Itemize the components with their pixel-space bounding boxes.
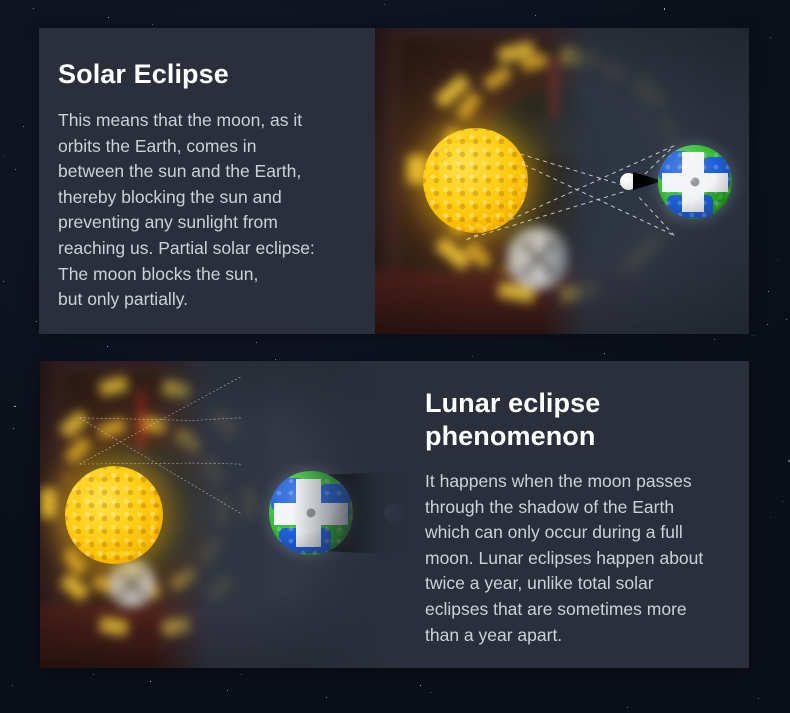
body-line: twice a year, unlike total solar (425, 571, 729, 597)
lunar-eclipse-text-panel: Lunar eclipse phenomenon It happens when… (413, 361, 749, 668)
solar-eclipse-body: This means that the moon, as it orbits t… (58, 108, 349, 313)
body-line: between the sun and the Earth, (58, 159, 349, 185)
earth-sphere (658, 145, 732, 219)
solar-eclipse-card[interactable]: Solar Eclipse This means that the moon, … (39, 28, 749, 334)
lunar-eclipse-heading: Lunar eclipse phenomenon (425, 387, 729, 453)
body-line: preventing any sunlight from (58, 210, 349, 236)
body-line: which can only occur during a full (425, 520, 729, 546)
heading-line: Lunar eclipse (425, 387, 729, 420)
sun-sphere (65, 466, 163, 564)
body-line: This means that the moon, as it (58, 108, 349, 134)
heading-line: phenomenon (425, 420, 729, 453)
solar-eclipse-text-panel: Solar Eclipse This means that the moon, … (39, 28, 375, 334)
body-line: but only partially. (58, 287, 349, 313)
body-line: thereby blocking the sun and (58, 185, 349, 211)
body-line: reaching us. Partial solar eclipse: (58, 236, 349, 262)
body-line: than a year apart. (425, 623, 729, 649)
image-fade-right (293, 361, 413, 668)
body-line: It happens when the moon passes (425, 469, 729, 495)
lunar-eclipse-body: It happens when the moon passes through … (425, 469, 729, 648)
body-line: through the shadow of the Earth (425, 495, 729, 521)
infographic-stage: Solar Eclipse This means that the moon, … (0, 0, 790, 713)
solar-eclipse-image (375, 28, 749, 334)
body-line: orbits the Earth, comes in (58, 134, 349, 160)
solar-eclipse-heading: Solar Eclipse (58, 58, 349, 90)
lunar-eclipse-card[interactable]: Lunar eclipse phenomenon It happens when… (40, 361, 749, 668)
body-line: The moon blocks the sun, (58, 262, 349, 288)
body-line: eclipses that are sometimes more (425, 597, 729, 623)
sun-sphere (423, 128, 528, 233)
body-line: moon. Lunar eclipses happen about (425, 546, 729, 572)
lunar-eclipse-image (40, 361, 413, 668)
